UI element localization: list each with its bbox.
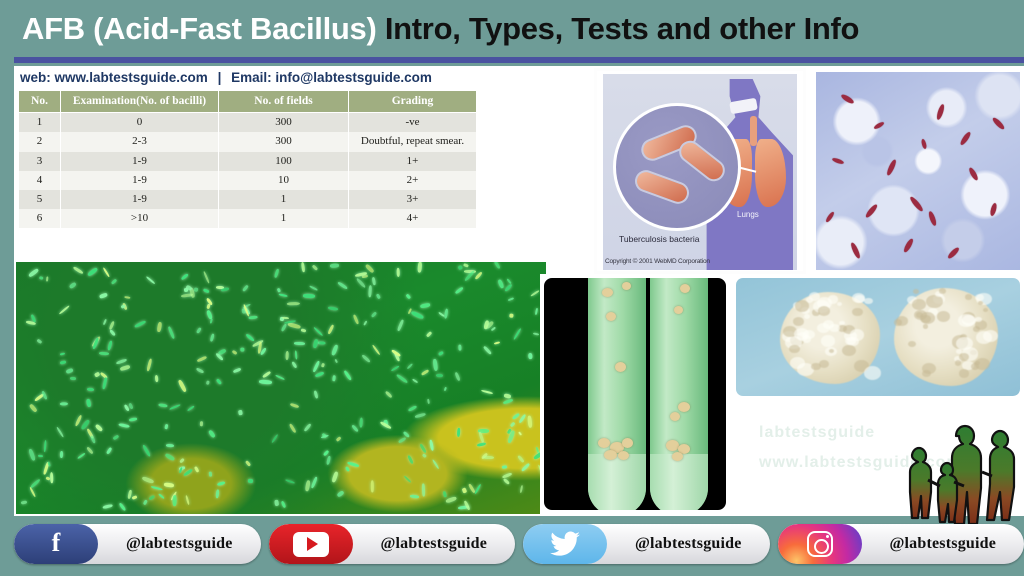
fluorescent-bacillus [179,458,185,464]
magnifier-circle [613,103,741,231]
page-title-rest: Intro, Types, Tests and other Info [377,11,860,46]
fluorescent-bacillus [209,333,214,342]
colony-spot [678,402,690,412]
colony-lobe [789,345,800,354]
table-row: 5 1-9 1 3+ [19,190,477,209]
page-header: AFB (Acid-Fast Bacillus) Intro, Types, T… [0,0,1024,58]
fluorescent-bacillus [312,264,318,270]
contact-line: web: www.labtestsguide.com | Email: info… [20,70,432,85]
fluorescent-bacillus [206,380,210,385]
facebook-icon[interactable]: f [14,524,98,564]
colony-lobe [864,366,881,380]
fluorescent-bacillus [502,465,507,468]
acid-fast-bacillus [991,116,1005,130]
website-link[interactable]: www.labtestsguide.com [55,70,208,85]
fluorescent-bacillus [232,350,238,356]
lowenstein-jensen-slant-tubes [540,274,730,514]
fluorescent-bacillus [124,296,131,299]
fluorescent-bacillus [352,424,359,432]
fluorescent-bacillus [208,430,216,439]
fluorescent-bacillus [248,478,254,482]
colony-lobe [850,329,864,340]
fluorescent-bacillus [92,338,99,350]
fluorescent-bacillus [102,377,107,389]
fluorescent-bacillus [403,476,411,484]
fluorescent-bacillus [168,326,175,339]
fluorescent-bacillus [313,391,318,399]
acid-fast-bacillus [825,211,835,223]
fluorescent-bacillus [112,435,119,441]
colony-lobe [795,300,809,311]
fluorescent-bacillus [332,471,339,482]
acid-fast-bacillus [928,210,938,226]
fluorescent-bacillus [151,486,163,491]
fluorescent-bacillus [336,436,342,441]
table-row: 4 1-9 10 2+ [19,171,477,190]
colony-lobe [852,308,862,316]
fluorescent-bacillus [202,288,209,294]
fluorescent-bacillus [304,423,312,432]
cell-exam: 1-9 [61,152,219,171]
fluorescent-bacillus [21,501,28,505]
colony-lobe [937,311,950,322]
fluorescent-bacillus [494,341,500,345]
rough-buff-colonies-on-agar [732,274,1024,400]
fluorescent-bacillus [233,368,241,373]
fluorescent-bacillus [217,481,226,486]
fluorescent-bacillus [397,269,400,278]
twitter-bird-glyph [550,531,580,557]
fluorescent-bacillus [142,476,154,484]
fluorescent-bacillus [173,495,177,507]
colony-lobe [926,295,943,308]
facebook-handle: @labtestsguide [98,535,261,553]
colony-lobe [817,323,830,333]
fluorescent-bacillus [483,456,494,460]
acid-fast-bacillus [959,131,972,146]
fluorescent-bacillus [118,423,129,428]
fluorescent-bacillus [372,344,381,355]
fluorescent-bacillus [30,403,38,412]
fluorescent-bacillus [220,287,228,291]
tube-slant-surface [650,454,708,510]
fluorescent-bacillus [77,453,85,460]
bacillus-shape [632,167,692,207]
acid-fast-bacillus [990,202,998,216]
fluorescent-bacillus [518,431,523,436]
fluorescent-bacillus [240,348,244,352]
colony-spot [598,438,610,448]
cell-no: 6 [19,209,61,228]
colony-lobe [939,288,946,294]
fluorescent-bacillus [245,333,255,342]
cell-fields: 300 [219,132,349,151]
fluorescent-bacillus [245,460,251,467]
acid-fast-bacillus [936,103,946,120]
colony-lobe [793,317,804,326]
fluorescent-bacillus [60,451,63,458]
fluorescent-bacillus [119,364,129,370]
fluorescent-bacillus [155,375,159,382]
fluorescent-bacillus [417,262,422,273]
fluorescent-bacillus [443,308,448,318]
tube-slant-surface [588,454,646,510]
fluorescent-bacillus [197,356,207,362]
fluorescent-bacillus [294,350,297,359]
fluorescent-bacillus [44,440,47,452]
fluorescent-bacillus [157,403,167,407]
fluorescent-bacillus [313,360,321,372]
tubes-photo-area [544,278,726,510]
colony-lobe [864,298,873,305]
fluorescent-bacillus [509,422,514,427]
fluorescent-bacillus [328,324,335,334]
fluorescent-bacillus [166,444,174,448]
fluorescent-bacillus [103,504,113,509]
fluorescent-bacillus [111,279,118,286]
fluorescent-bacillus [275,374,285,380]
fluorescent-bacillus [48,462,52,467]
colony-lobe [914,310,927,320]
colony-lobe [837,302,843,307]
fluorescent-bacillus [300,328,306,332]
colony-lobe [829,324,840,333]
fluorescent-bacillus [313,339,318,348]
fluorescent-bacillus [503,478,510,485]
fluorescent-bacillus [50,472,53,484]
colony-spot [670,412,680,421]
fluorescent-bacillus [87,267,98,276]
fluorescent-bacillus [60,402,68,406]
fluorescent-bacillus [301,262,305,273]
fluorescent-bacillus [194,287,199,291]
fluorescent-bacillus [512,413,520,420]
fluorescent-bacillus [457,265,463,270]
fluorescent-bacillus [238,410,242,415]
fluorescent-bacillus [94,424,103,432]
table-row: 6 >10 1 4+ [19,209,477,228]
cell-fields: 10 [219,171,349,190]
fluorescent-bacillus [443,386,447,391]
acid-fast-bacillus [864,203,878,218]
fluorescent-bacillus [165,453,175,461]
fluorescent-bacillus [86,399,91,407]
fluorescent-bacillus [458,345,461,351]
colony-spot [672,452,683,461]
fluorescent-bacillus [337,490,345,497]
fluorescent-bacillus [345,466,351,472]
culture-tube [588,278,646,510]
column-header-no: No. [19,91,61,113]
lungs-label: Lungs [737,210,759,219]
fluorescent-bacillus [457,428,461,437]
cell-exam: 2-3 [61,132,219,151]
fluorescent-bacillus [513,328,522,340]
facebook-f-glyph: f [52,530,61,556]
fluorescent-bacillus [508,297,514,301]
acid-fast-bacillus [968,167,979,182]
fluorescent-bacillus [410,494,419,498]
fluorescent-bacillus [535,308,539,315]
fluorescent-bacillus [200,421,203,426]
page-title-highlight: AFB (Acid-Fast Bacillus) [22,11,377,46]
fluorescent-bacillus [59,352,64,355]
fluorescent-bacillus [129,417,138,421]
colony-spot [615,362,626,372]
fluorescent-bacillus [87,388,94,392]
tuberculosis-bacteria-label: Tuberculosis bacteria [619,234,699,244]
fluorescent-bacillus [326,455,331,465]
contact-separator: | [212,70,228,85]
fluorescent-bacillus [289,423,297,433]
fluorescent-bacillus [353,314,360,324]
youtube-icon[interactable] [269,524,353,564]
fluorescent-bacillus [146,276,156,285]
fluorescent-bacillus [156,321,161,332]
fluorescent-bacillus [38,276,43,281]
cell-grading: 4+ [349,209,477,228]
fluorescent-bacillus [376,294,381,300]
fluorescent-bacillus [520,485,524,494]
fluorescent-bacillus [86,447,93,455]
fluorescent-bacillus [422,484,425,497]
colony-spot [604,450,617,460]
acid-fast-bacillus [909,195,924,212]
colony-spot [618,451,629,460]
colony-lobe [818,306,830,316]
play-triangle-glyph [293,532,329,557]
table-row: 3 1-9 100 1+ [19,152,477,171]
fluorescent-bacillus [141,444,150,457]
colony-lobe [908,341,916,348]
colony-lobe [811,363,821,371]
social-chip-instagram[interactable]: @labtestsguide [778,524,1024,564]
rough-colony [780,292,880,384]
cell-no: 3 [19,152,61,171]
trachea-shape [750,116,757,146]
fluorescent-bacillus [328,307,338,312]
twitter-icon[interactable] [523,524,607,564]
youtube-handle: @labtestsguide [353,535,516,553]
fluorescent-bacillus [274,268,279,277]
fluorescent-bacillus [371,311,378,318]
table-row: 2 2-3 300 Doubtful, repeat smear. [19,132,477,151]
fluorescent-bacillus [106,446,112,453]
rough-colony [894,288,998,386]
fluorescent-bacillus [494,262,501,269]
fluorescent-bacillus [406,362,413,369]
fluorescent-bacillus [285,351,289,360]
fluorescent-bacillus [210,319,213,324]
fluorescent-bacillus [443,491,447,497]
colony-lobe [956,337,973,351]
fluorescent-bacillus [329,264,338,268]
fluorescent-bacillus [474,483,482,494]
colony-lobe [913,289,919,294]
content-panel: web: www.labtestsguide.com | Email: info… [14,66,1024,516]
cell-grading: 3+ [349,190,477,209]
fluorescent-bacillus [398,320,405,332]
fluorescent-bacillus [397,373,409,383]
colony-lobe [959,369,969,377]
colony-lobe [971,363,979,369]
fluorescent-bacillus [146,358,152,371]
column-header-grading: Grading [349,91,477,113]
colony-lobe [804,314,810,319]
fluorescent-bacillus [398,437,406,444]
fluorescent-bacillus [271,434,278,443]
instagram-icon[interactable] [778,524,862,564]
fluorescent-bacillus [100,293,108,299]
fluorescent-bacillus [368,285,372,297]
right-lung-lobe [755,139,786,207]
fluorescent-bacillus [132,496,138,501]
fluorescent-bacillus [343,370,352,381]
cell-fields: 1 [219,209,349,228]
fluorescent-bacillus [433,358,438,371]
fluorescent-bacillus [163,482,173,487]
lung-diagram-canvas: Lungs Tuberculosis bacteria Copyright © … [597,71,803,271]
colony-lobe [790,357,805,369]
cell-fields: 1 [219,190,349,209]
instagram-handle: @labtestsguide [862,535,1024,553]
fluorescent-bacillus [309,285,318,291]
twitter-handle: @labtestsguide [607,535,770,553]
fluorescent-bacillus [56,427,64,438]
instagram-camera-glyph [807,531,833,557]
colony-lobe [955,360,961,365]
fluorescent-bacillus [446,497,457,504]
fluorescent-bacillus [208,472,211,477]
fluorescent-bacillus [28,268,39,277]
copyright-notice: Copyright © 2001 WebMD Corporation [605,258,710,265]
colony-spot [622,282,631,290]
fluorescent-bacillus [281,501,287,509]
fluorescent-bacillus [103,267,111,278]
cell-exam: 0 [61,113,219,133]
fluorescent-bacillus [426,332,432,338]
fluorescent-bacillus [29,487,36,498]
fluorescent-bacillus [479,432,485,443]
fluorescent-bacillus [455,287,464,294]
fluorescent-bacillus [118,502,126,511]
fluorescent-bacillus [431,459,439,470]
fluorescent-bacillus [178,379,187,392]
fluorescent-bacillus [438,351,444,356]
colony-lobe [983,330,998,342]
fluorescent-bacillus [127,490,131,499]
fluorescent-bacillus [288,322,301,329]
zn-microscope-field [816,72,1020,270]
fluorescent-bacillus [70,377,76,381]
colony-spot [674,306,683,314]
social-chip-youtube[interactable]: @labtestsguide [269,524,516,564]
fluorescent-bacillus [60,361,66,365]
fluorescent-bacillus [275,500,279,506]
web-label: web: [20,70,51,85]
fluorescent-bacillus [134,321,146,329]
fluorescent-bacillus [143,500,148,506]
fluorescent-bacillus [158,493,165,499]
column-header-fields: No. of fields [219,91,349,113]
acid-fast-bacillus [840,93,855,105]
cell-no: 1 [19,113,61,133]
email-link[interactable]: info@labtestsguide.com [275,70,431,85]
fluorescent-bacillus [262,371,271,378]
fluorescent-bacillus [503,393,510,398]
acid-fast-bacillus [886,159,898,177]
fluorescent-bacillus [356,277,367,288]
cell-no: 4 [19,171,61,190]
colony-spot [602,288,613,297]
culture-tube [650,278,708,510]
cell-grading: 2+ [349,171,477,190]
colony-spot [622,438,633,448]
acid-fast-bacillus [873,121,885,130]
fluorescent-bacillus [215,488,219,498]
colony-lobe [821,335,835,346]
fluorescent-bacillus [46,277,49,282]
fluorescent-bacillus [69,282,77,289]
fluorescent-bacillus [99,352,109,356]
fluorescent-bacillus [187,405,195,411]
fluorescent-bacillus [521,463,530,472]
fluorescent-bacillus [363,321,368,326]
fluorescent-bacillus [481,390,493,395]
cell-grading: -ve [349,113,477,133]
fluorescent-bacillus [195,367,203,374]
fluorescent-bacillus [185,496,190,506]
auramine-fluorescent-stain [16,262,546,514]
fluorescent-bacillus [504,283,512,292]
fluorescent-bacillus [501,472,511,479]
fluorescent-bacillus [503,398,513,404]
fluorescent-bacillus [422,453,427,458]
social-chip-twitter[interactable]: @labtestsguide [523,524,770,564]
fluorescent-bacillus [302,293,315,297]
fluorescent-bacillus [66,368,74,374]
acid-fast-bacillus [921,139,927,150]
fluorescent-bacillus [474,271,483,280]
colony-lobe [975,317,982,322]
fluorescent-bacillus [454,372,460,381]
table-header-row: No. Examination(No. of bacilli) No. of f… [19,91,477,113]
social-chip-facebook[interactable]: f @labtestsguide [14,524,261,564]
fluorescent-bacillus [517,456,524,463]
cell-no: 2 [19,132,61,151]
acid-fast-bacillus [946,247,959,260]
acid-fast-bacillus [849,242,861,260]
fluorescent-bacillus [420,303,431,309]
colony-lobe [923,324,929,328]
fluorescent-bacillus [334,358,338,363]
page-title: AFB (Acid-Fast Bacillus) Intro, Types, T… [22,8,859,50]
fluorescent-bacillus [533,332,540,336]
fluorescent-bacillus [421,369,429,376]
fluorescent-bacillus [527,415,532,428]
fluorescent-bacillus [107,340,113,350]
fluorescent-bacillus [476,442,485,447]
agar-plate-surface [736,278,1020,396]
fluorescent-bacillus [483,345,492,354]
fluorescent-bacillus [169,404,181,411]
fluorescent-bacillus [407,405,416,412]
fluorescent-bacillus [294,342,305,345]
cell-exam: 1-9 [61,190,219,209]
colony-lobe [965,294,972,299]
cell-exam: >10 [61,209,219,228]
cell-grading: 1+ [349,152,477,171]
